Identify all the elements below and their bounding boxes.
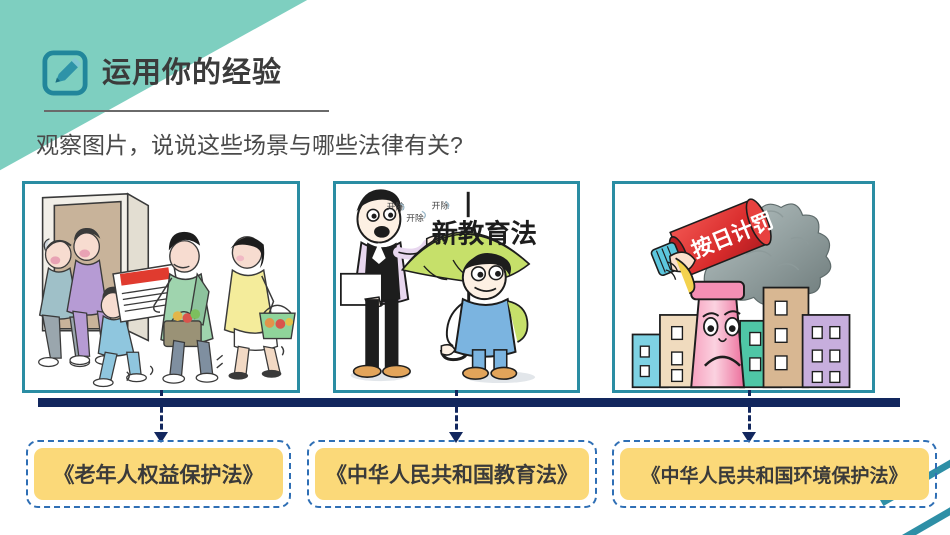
- svg-text:开除: 开除: [406, 212, 424, 223]
- image-panel-elderly-rights: [22, 181, 300, 393]
- law-box-education[interactable]: 《中华人民共和国教育法》: [307, 440, 597, 508]
- law-box-elderly-rights[interactable]: 《老年人权益保护法》: [26, 440, 291, 508]
- svg-text:新教育法: 新教育法: [432, 219, 537, 249]
- image-panel-environment-law: 按日计罚: [612, 181, 875, 393]
- law-label-education: 《中华人民共和国教育法》: [315, 448, 589, 500]
- page-heading: 运用你的经验: [42, 50, 282, 96]
- law-label-elderly-rights: 《老年人权益保护法》: [34, 448, 283, 500]
- law-label-environment: 《中华人民共和国环境保护法》: [620, 448, 929, 500]
- svg-text:开除: 开除: [432, 199, 450, 210]
- image-panel-education-law: 新教育法 开除 开除 开除: [333, 181, 580, 393]
- slide-canvas: 运用你的经验 观察图片，说说这些场景与哪些法律有关?: [0, 0, 950, 535]
- prompt-question: 观察图片，说说这些场景与哪些法律有关?: [36, 131, 463, 161]
- cartoon-elderly-rights: [25, 184, 297, 391]
- cartoon-education-law: 新教育法 开除 开除 开除: [336, 184, 577, 391]
- connector-drop-3: [748, 390, 751, 438]
- pencil-square-icon: [42, 50, 88, 96]
- heading-underline: [44, 110, 329, 112]
- connector-drop-2: [455, 390, 458, 438]
- cartoon-environment-law: 按日计罚: [615, 184, 872, 391]
- law-box-environment[interactable]: 《中华人民共和国环境保护法》: [612, 440, 937, 508]
- svg-text:开除: 开除: [387, 200, 405, 211]
- page-title: 运用你的经验: [102, 59, 282, 88]
- connector-rail: [38, 398, 900, 407]
- connector-drop-1: [160, 390, 163, 438]
